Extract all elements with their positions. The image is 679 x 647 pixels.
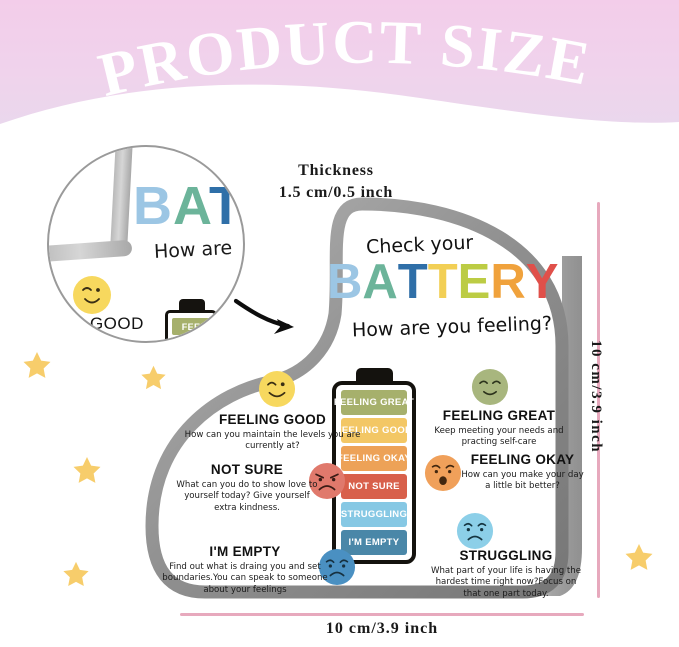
header-banner: PRODUCT SIZE — [0, 0, 679, 132]
thickness-label: Thickness — [236, 160, 436, 182]
decor-star — [62, 560, 90, 588]
heart-board: Check your BATTERY How are you feeling? … — [130, 196, 590, 608]
board-edge-horizontal — [47, 240, 132, 263]
header-wave-divider — [0, 76, 679, 132]
dimension-label-bottom: 10 cm/3.9 inch — [180, 620, 584, 638]
decor-star — [72, 455, 102, 485]
dimension-label-right: 10 cm/3.9 inch — [587, 340, 604, 453]
decor-star — [624, 542, 654, 572]
dimension-guide-bottom — [180, 613, 584, 616]
decor-star — [22, 350, 52, 380]
board-outline — [130, 196, 590, 608]
